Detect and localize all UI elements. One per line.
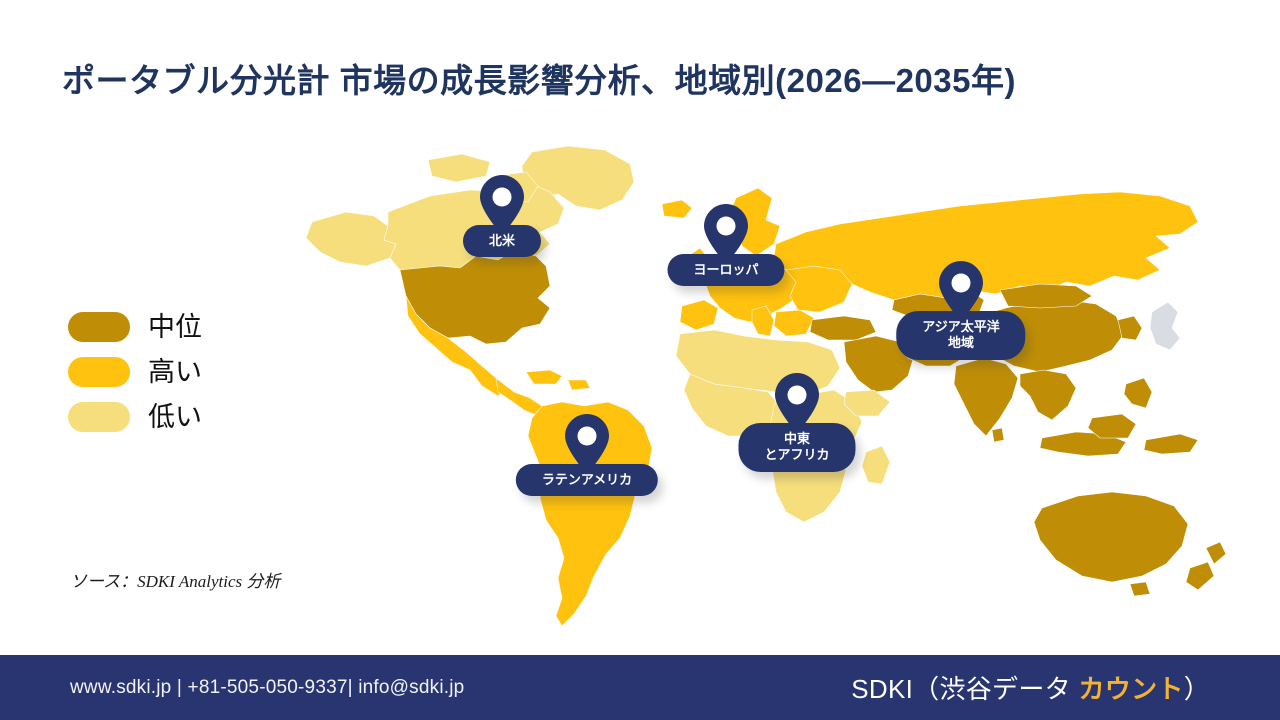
map-regions [306,146,1226,626]
location-pin-icon [938,260,984,322]
legend-swatch-low [68,402,130,432]
brand-suffix: ） [1184,674,1210,704]
footer-bar: www.sdki.jp | +81-505-050-9337| info@sdk… [0,655,1280,720]
region-india [954,358,1018,436]
region-japan [1150,302,1180,350]
region-korea [1118,316,1142,340]
region-philippines [1124,378,1152,408]
region-new-guinea [1144,434,1198,454]
region-eastern-europe [786,266,852,312]
region-iceland [662,200,692,218]
location-pin-icon [703,203,749,265]
map-legend: 中位 高い 低い [68,312,202,432]
legend-item-low: 低い [68,402,202,432]
region-caribbean [526,370,562,384]
world-map-svg [300,140,1240,640]
region-alaska [306,212,396,266]
footer-contact-info[interactable]: www.sdki.jp | +81-505-050-9337| info@sdk… [70,677,464,699]
region-new-zealand-south [1186,562,1214,590]
region-australia [1034,492,1188,582]
region-iberia [680,300,718,330]
brand-accent: カウント [1078,674,1183,704]
location-pin-icon [774,372,820,434]
legend-swatch-medium [68,312,130,342]
legend-label-low: 低い [148,404,202,431]
legend-label-medium: 中位 [148,314,202,341]
legend-item-high: 高い [68,357,202,387]
region-new-zealand [1206,542,1226,564]
legend-label-high: 高い [148,359,202,386]
brand-prefix: SDKI（渋谷データ [851,674,1078,704]
location-pin-icon [479,174,525,236]
region-turkey [810,316,876,340]
region-southeast-asia [1020,370,1076,420]
legend-item-medium: 中位 [68,312,202,342]
region-sri-lanka [992,428,1004,442]
world-map-container: 北米 ヨーロッパ アジア太平洋 地域 中東 とアフリカ ラテンアメリカ [300,140,1240,640]
footer-brand-logo: SDKI（渋谷データ カウント） [851,669,1210,706]
region-tasmania [1130,582,1150,596]
page-title: ポータブル分光計 市場の成長影響分析、地域別(2026—2035年) [62,54,1222,102]
legend-swatch-high [68,357,130,387]
region-balkans [774,310,814,336]
region-madagascar [862,446,890,484]
region-hispaniola [568,380,590,390]
source-note: ソース：SDKI Analytics 分析 [70,567,280,592]
location-pin-icon [564,413,610,475]
